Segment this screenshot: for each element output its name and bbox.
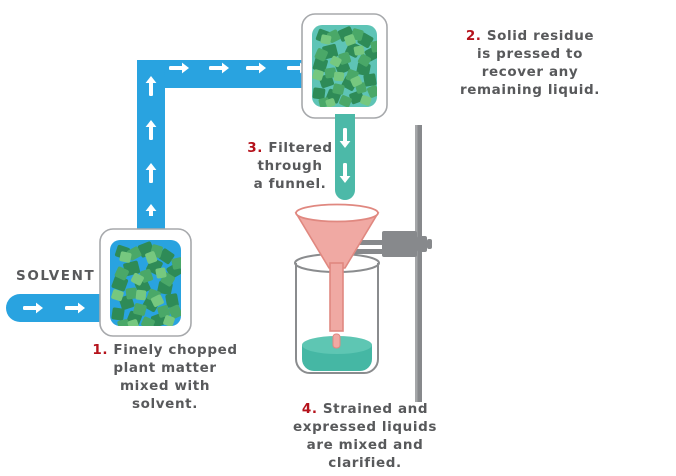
step-2-number: 2. (466, 28, 482, 44)
step-2-text: Solid residue is pressed to recover any … (460, 28, 600, 98)
step-3-caption: 3. Filtered through a funnel. (233, 139, 347, 193)
funnel-rim (296, 205, 378, 222)
step-1-text: Finely chopped plant matter mixed with s… (108, 342, 237, 412)
step-2-caption: 2. Solid residue is pressed to recover a… (396, 27, 664, 99)
step-1-number: 1. (92, 342, 108, 358)
top-pipe-horizontal (151, 60, 316, 88)
clamp-screw (417, 236, 427, 252)
press-solid-residue (302, 14, 387, 118)
clamp-screw-tip (427, 239, 432, 249)
ring-stand (415, 125, 422, 402)
funnel-drip (333, 334, 340, 348)
step-1-caption: 1. Finely chopped plant matter mixed wit… (52, 341, 278, 413)
funnel-stem (330, 263, 343, 331)
step-3-number: 3. (247, 140, 263, 156)
step-4-caption: 4. Strained and expressed liquids are mi… (256, 400, 474, 472)
diagram-canvas: SOLVENT 1. Finely chopped plant matter m… (0, 0, 676, 476)
stand-rod-highlight (415, 125, 418, 402)
step-4-number: 4. (302, 401, 318, 417)
beaker-plant-matter-in-solvent (100, 229, 191, 336)
solvent-label: SOLVENT (16, 268, 95, 284)
clamp-body (382, 231, 417, 257)
step-3-text: Filtered through a funnel. (254, 140, 333, 192)
